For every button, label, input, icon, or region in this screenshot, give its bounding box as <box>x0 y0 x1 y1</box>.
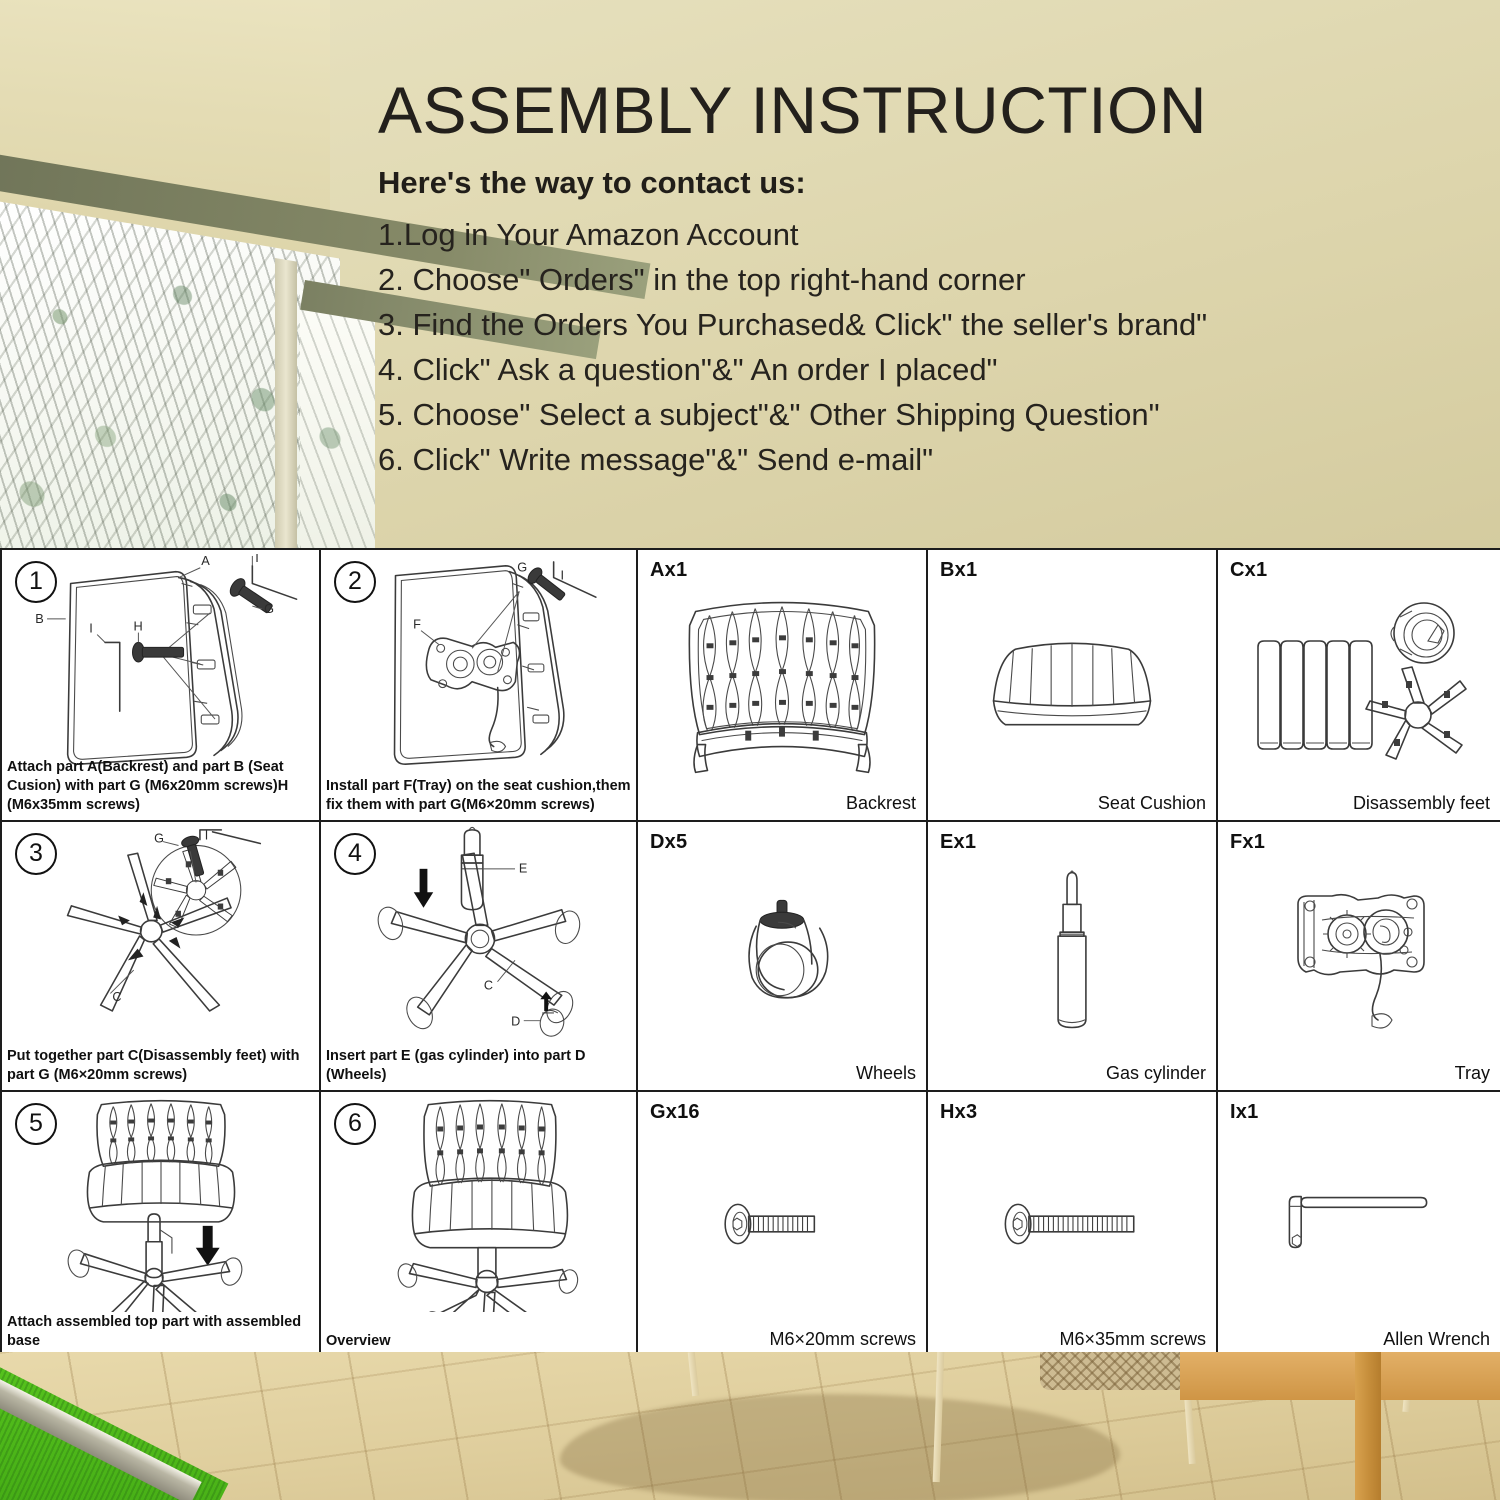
contact-step-4: 4. Click" Ask a question"&" An order I p… <box>378 347 1207 392</box>
table-top <box>1180 1352 1500 1400</box>
part-D: Dx5 <box>638 822 928 1092</box>
table-leg <box>1355 1352 1381 1500</box>
part-A-illustration <box>638 584 926 786</box>
assembly-step-4: 4 E <box>321 822 638 1092</box>
part-H: Hx3 M6×35mm screws <box>928 1092 1218 1356</box>
step-3-illustration: G C I <box>2 826 319 1046</box>
step-4-caption: Insert part E (gas cylinder) into part D… <box>326 1047 632 1085</box>
part-D-illustration <box>638 856 926 1056</box>
assembly-step-5: 5 <box>2 1092 321 1356</box>
label-I: I <box>205 829 209 843</box>
part-H-illustration <box>928 1126 1216 1322</box>
label-C: C <box>112 990 121 1004</box>
assembly-step-3: 3 <box>2 822 321 1092</box>
part-name: Tray <box>1455 1063 1490 1084</box>
page-title: ASSEMBLY INSTRUCTION <box>378 72 1207 148</box>
part-B-illustration <box>928 584 1216 786</box>
part-G: Gx16 M6×20mm screws <box>638 1092 928 1356</box>
contact-subtitle: Here's the way to contact us: <box>378 165 806 201</box>
label-I-left: I <box>89 621 93 636</box>
label-E: E <box>519 862 527 876</box>
part-F-illustration <box>1218 856 1500 1056</box>
part-code: Fx1 <box>1230 831 1265 854</box>
part-code: Hx3 <box>940 1101 977 1124</box>
contact-steps-list: 1.Log in Your Amazon Account 2. Choose" … <box>378 212 1207 482</box>
part-code: Ax1 <box>650 559 687 582</box>
step-2-caption: Install part F(Tray) on the seat cushion… <box>326 777 632 815</box>
step-6-illustration <box>321 1096 636 1312</box>
label-C: C <box>484 979 493 993</box>
assembly-step-1: 1 <box>2 550 321 822</box>
part-code: Ex1 <box>940 831 976 854</box>
part-name: M6×20mm screws <box>769 1329 916 1350</box>
contact-step-2: 2. Choose" Orders" in the top right-hand… <box>378 257 1207 302</box>
part-C-illustration <box>1218 584 1500 786</box>
step-3-caption: Put together part C(Disassembly feet) wi… <box>7 1047 315 1085</box>
part-F: Fx1 <box>1218 822 1500 1092</box>
label-B: B <box>35 611 44 626</box>
part-code: Bx1 <box>940 559 977 582</box>
part-code: Cx1 <box>1230 559 1267 582</box>
part-I: Ix1 Allen Wrench <box>1218 1092 1500 1356</box>
step-4-illustration: E <box>321 826 636 1046</box>
step-5-illustration <box>2 1096 319 1312</box>
contact-step-5: 5. Choose" Select a subject"&" Other Shi… <box>378 392 1207 437</box>
label-A: A <box>201 554 210 568</box>
assembly-step-6: 6 <box>321 1092 638 1356</box>
part-name: Allen Wrench <box>1383 1329 1490 1350</box>
part-C: Cx1 <box>1218 550 1500 822</box>
part-A: Ax1 <box>638 550 928 822</box>
header-text-block: ASSEMBLY INSTRUCTION Here's the way to c… <box>0 0 1500 548</box>
label-G: G <box>517 560 527 575</box>
assembly-step-2: 2 <box>321 550 638 822</box>
part-E-illustration <box>928 856 1216 1056</box>
assembly-instruction-page: ASSEMBLY INSTRUCTION Here's the way to c… <box>0 0 1500 1500</box>
part-name: Gas cylinder <box>1106 1063 1206 1084</box>
contact-step-3: 3. Find the Orders You Purchased& Click"… <box>378 302 1207 347</box>
part-code: Ix1 <box>1230 1101 1258 1124</box>
part-name: Disassembly feet <box>1353 793 1490 814</box>
part-name: Backrest <box>846 793 916 814</box>
label-G: G <box>154 832 164 846</box>
assembly-grid: 1 <box>0 548 1500 1354</box>
part-I-illustration <box>1218 1126 1500 1322</box>
part-name: M6×35mm screws <box>1059 1329 1206 1350</box>
step-5-caption: Attach assembled top part with assembled… <box>7 1313 315 1351</box>
part-E: Ex1 Gas cylinder <box>928 822 1218 1092</box>
label-I: I <box>561 568 565 583</box>
part-B: Bx1 <box>928 550 1218 822</box>
part-name: Wheels <box>856 1063 916 1084</box>
label-D: D <box>511 1015 520 1029</box>
background-deck-photo <box>0 1352 1500 1500</box>
step-1-caption: Attach part A(Backrest) and part B (Seat… <box>7 758 315 815</box>
contact-step-6: 6. Click" Write message"&" Send e-mail" <box>378 437 1207 482</box>
step-2-illustration: G F I <box>321 554 636 776</box>
step-6-caption: Overview <box>326 1332 632 1351</box>
label-G: G <box>264 601 274 616</box>
contact-step-1: 1.Log in Your Amazon Account <box>378 212 1207 257</box>
label-F: F <box>413 617 421 632</box>
label-H: H <box>133 619 142 634</box>
part-code: Dx5 <box>650 831 687 854</box>
label-I-top: I <box>255 554 259 565</box>
part-G-illustration <box>638 1126 926 1322</box>
step-1-illustration: A B G H I I <box>2 554 319 776</box>
part-name: Seat Cushion <box>1098 793 1206 814</box>
part-code: Gx16 <box>650 1101 700 1124</box>
